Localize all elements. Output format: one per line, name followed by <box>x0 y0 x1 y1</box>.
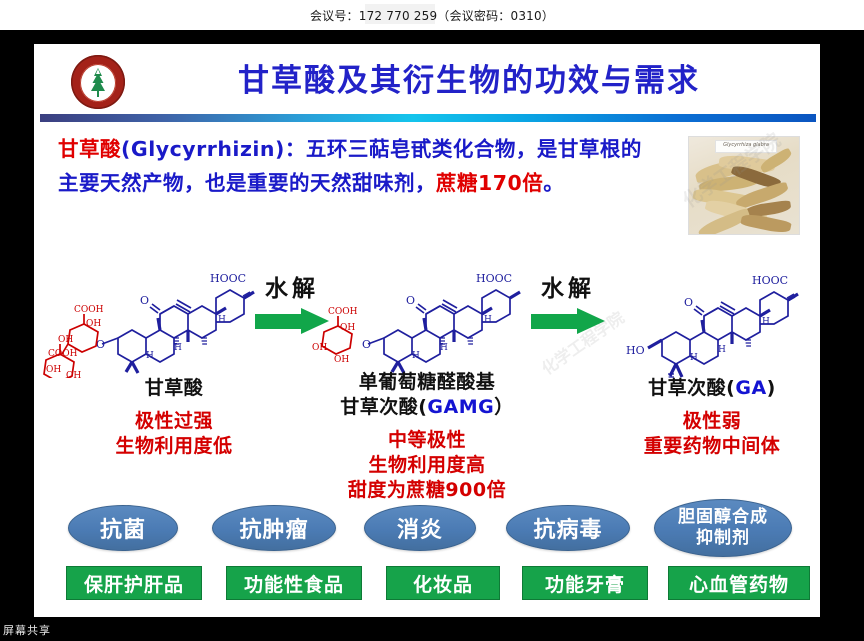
pine-tree-glyph <box>87 67 109 99</box>
property-line: 生物利用度高 <box>302 453 552 478</box>
svg-text:H: H <box>484 315 492 325</box>
caption-ga: 甘草次酸(GA) 极性弱 重要药物中间体 <box>612 376 812 459</box>
activity-badge-row: 抗菌 抗肿瘤 消炎 抗病毒 胆固醇合成 抑制剂 <box>44 499 810 555</box>
university-emblem-icon <box>62 55 134 111</box>
product-box-cosmetics[interactable]: 化妆品 <box>386 566 500 600</box>
product-box-functional-food[interactable]: 功能性食品 <box>226 566 362 600</box>
activity-badge-antibacterial[interactable]: 抗菌 <box>68 505 178 551</box>
presentation-slide: 甘草酸及其衍生物的功效与需求 甘草酸(Glycyrrhizin)：五环三萜皂甙类… <box>34 44 820 617</box>
svg-text:O: O <box>406 294 415 307</box>
product-box-cardiovascular-drug[interactable]: 心血管药物 <box>668 566 810 600</box>
svg-text:HOOC: HOOC <box>752 274 788 287</box>
caption-gamg: 单葡萄糖醛酸基 甘草次酸(GAMG） 中等极性 生物利用度高 甜度为蔗糖900倍 <box>302 370 552 503</box>
hydrolysis-label: 水解 <box>522 276 614 302</box>
compound-name-line2: 甘草次酸(GAMG） <box>302 395 552 420</box>
compound-properties: 中等极性 生物利用度高 甜度为蔗糖900倍 <box>302 428 552 503</box>
compound-name: 甘草次酸(GA) <box>612 376 812 401</box>
compound-abbrev: GAMG <box>427 396 494 418</box>
property-line: 极性过强 <box>74 409 274 434</box>
svg-text:COOH: COOH <box>74 305 104 315</box>
meeting-info-bar: 会议号：172 770 259（会议密码：0310） <box>0 0 864 30</box>
intro-sweetness: 蔗糖170倍 <box>436 171 543 195</box>
compound-name-prefix: 甘草次酸( <box>648 377 735 399</box>
arrow-right-icon <box>531 308 605 334</box>
svg-text:OH: OH <box>334 355 349 365</box>
product-label: 保肝护肝品 <box>84 570 184 597</box>
svg-text:OH: OH <box>46 365 61 375</box>
compound-name: 甘草酸 <box>74 376 274 401</box>
svg-text:H: H <box>718 345 726 355</box>
svg-text:H: H <box>218 315 226 325</box>
activity-badge-antiviral[interactable]: 抗病毒 <box>506 505 630 551</box>
product-label: 功能性食品 <box>244 570 344 597</box>
svg-text:OH: OH <box>340 323 355 333</box>
svg-text:O: O <box>362 338 371 351</box>
slide-header: 甘草酸及其衍生物的功效与需求 <box>34 44 820 118</box>
svg-text:COOH: COOH <box>48 349 78 359</box>
licorice-root-photo: Glycyrrhiza glabra <box>688 136 800 235</box>
svg-text:OH: OH <box>86 319 101 329</box>
hydrolysis-step-2: 水解 <box>522 276 614 334</box>
compound-name: 单葡萄糖醛酸基 甘草次酸(GAMG） <box>302 370 552 420</box>
svg-text:HO: HO <box>626 344 645 357</box>
svg-text:OH: OH <box>58 335 73 345</box>
svg-text:COOH: COOH <box>328 307 358 317</box>
product-box-row: 保肝护肝品 功能性食品 化妆品 功能牙膏 心血管药物 <box>44 566 810 604</box>
compound-name-suffix: ） <box>494 396 514 418</box>
svg-text:H: H <box>690 353 698 363</box>
compound-properties: 极性弱 重要药物中间体 <box>612 409 812 459</box>
product-label: 功能牙膏 <box>545 570 625 597</box>
intro-term: 甘草酸 <box>58 137 121 161</box>
product-label: 化妆品 <box>413 570 473 597</box>
product-label: 心血管药物 <box>689 570 789 597</box>
compound-name-suffix: ) <box>767 377 776 399</box>
property-line: 生物利用度低 <box>74 434 274 459</box>
activity-badge-cholesterol-inhibitor[interactable]: 胆固醇合成 抑制剂 <box>654 499 792 557</box>
product-box-toothpaste[interactable]: 功能牙膏 <box>522 566 648 600</box>
product-box-liver-care[interactable]: 保肝护肝品 <box>66 566 202 600</box>
activity-badge-antiinflammatory[interactable]: 消炎 <box>364 505 476 551</box>
svg-text:O: O <box>684 296 693 309</box>
activity-label: 消炎 <box>397 512 443 544</box>
intro-paragraph: 甘草酸(Glycyrrhizin)：五环三萜皂甙类化合物，是甘草根的主要天然产物… <box>58 132 658 200</box>
activity-badge-antitumor[interactable]: 抗肿瘤 <box>212 505 336 551</box>
activity-label: 抗病毒 <box>533 512 602 544</box>
svg-text:HOOC: HOOC <box>210 272 246 285</box>
svg-text:H: H <box>146 351 154 361</box>
svg-text:OH: OH <box>312 343 327 353</box>
screen-share-label: 屏幕共享 <box>3 622 51 638</box>
intro-period: 。 <box>543 171 564 195</box>
structure-glycyrrhizin: O HOOC H H H O COOH OH OH COO <box>40 226 280 378</box>
screen-share-viewport: 会议号：172 770 259（会议密码：0310） 甘草酸及其衍生物的功效与需… <box>0 0 864 641</box>
svg-text:H: H <box>412 351 420 361</box>
svg-text:H: H <box>762 317 770 327</box>
header-divider-bar <box>40 114 816 122</box>
property-line: 重要药物中间体 <box>612 434 812 459</box>
svg-text:O: O <box>140 294 149 307</box>
meeting-id-text: 会议号：172 770 259（会议密码：0310） <box>310 7 554 24</box>
slide-title: 甘草酸及其衍生物的功效与需求 <box>139 52 799 110</box>
property-line: 中等极性 <box>302 428 552 453</box>
caption-glycyrrhizin: 甘草酸 极性过强 生物利用度低 <box>74 376 274 459</box>
compound-name-line: 单葡萄糖醛酸基 <box>302 370 552 395</box>
activity-label: 抗菌 <box>100 512 146 544</box>
activity-label-line2: 抑制剂 <box>696 528 750 549</box>
compound-properties: 极性过强 生物利用度低 <box>74 409 274 459</box>
svg-text:HOOC: HOOC <box>476 272 512 285</box>
compound-abbrev: GA <box>735 377 766 399</box>
structure-gamg: O HOOC H H H O COOH OH OH OH <box>306 226 541 378</box>
photo-label: Glycyrrhiza glabra <box>715 140 777 153</box>
activity-label: 抗肿瘤 <box>239 512 308 544</box>
svg-text:H: H <box>174 343 182 353</box>
svg-text:H: H <box>440 343 448 353</box>
property-line: 极性弱 <box>612 409 812 434</box>
compound-name-prefix: 甘草次酸( <box>340 396 427 418</box>
structure-glycyrrhetinic-acid: O HOOC H H H HO <box>624 234 819 384</box>
activity-label: 胆固醇合成 <box>678 507 768 528</box>
